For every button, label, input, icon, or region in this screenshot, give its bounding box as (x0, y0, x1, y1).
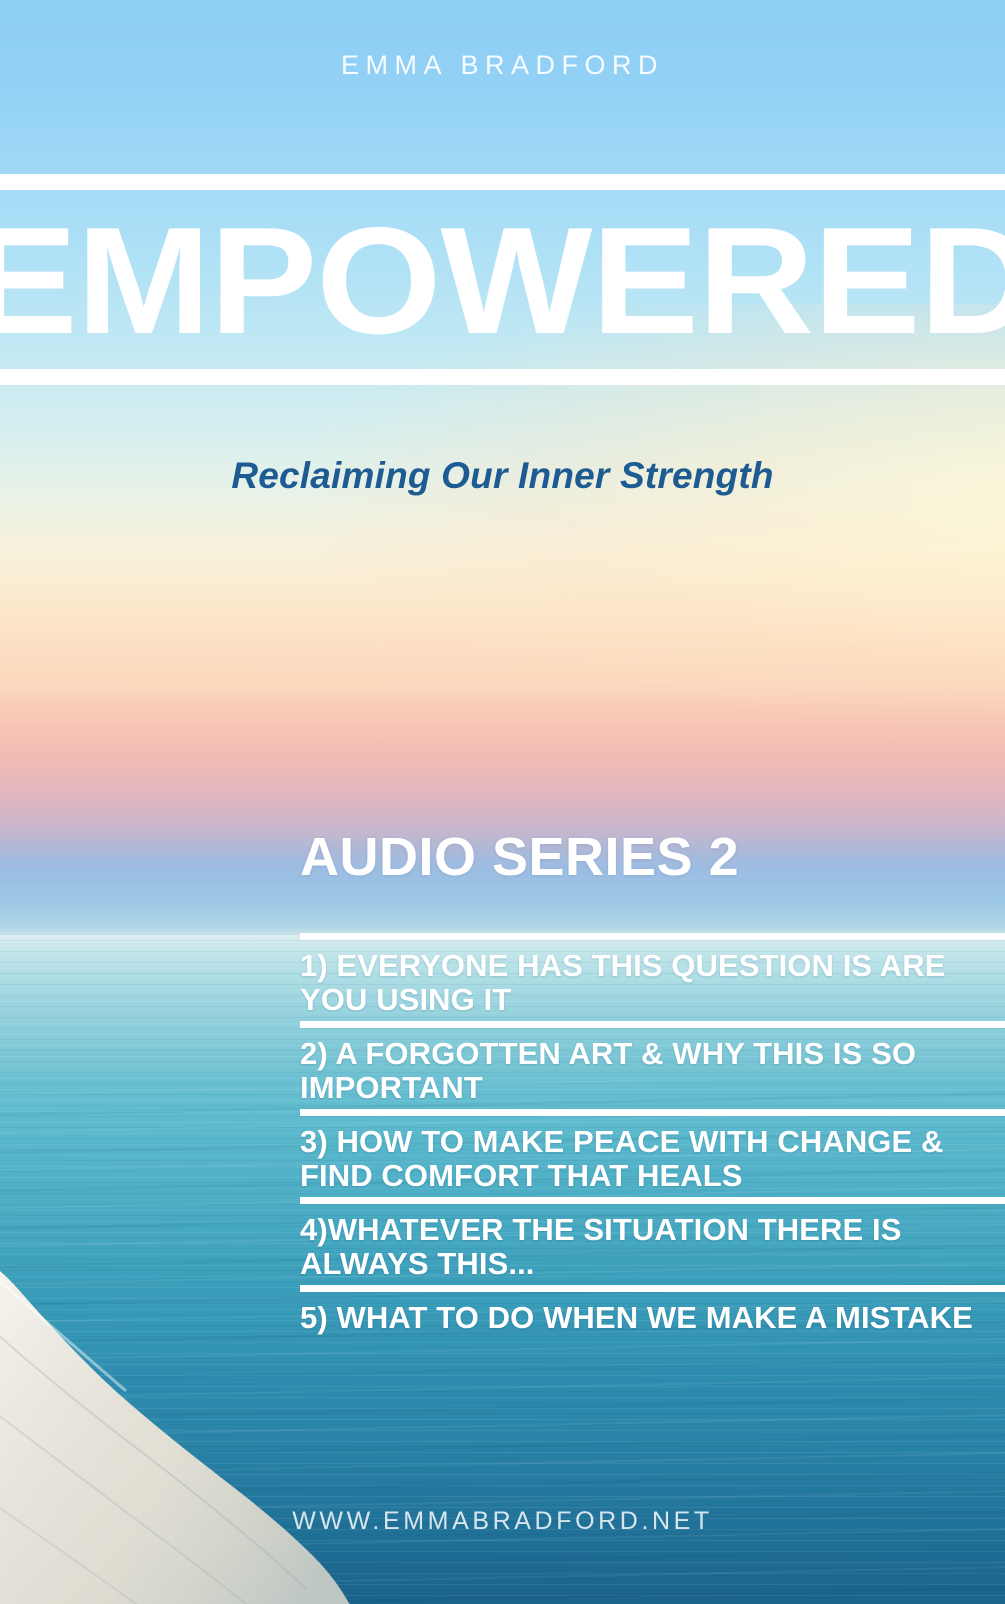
title-rule-bottom (0, 369, 1005, 385)
track-label: 3) HOW TO MAKE PEACE WITH CHANGE & FIND … (300, 1125, 1005, 1193)
track-separator (300, 1197, 1005, 1204)
author-name: EMMA BRADFORD (0, 50, 1005, 81)
list-item: 3) HOW TO MAKE PEACE WITH CHANGE & FIND … (300, 1109, 1005, 1197)
track-separator (300, 1285, 1005, 1292)
track-label: 1) EVERYONE HAS THIS QUESTION IS ARE YOU… (300, 949, 1005, 1017)
track-separator (300, 1021, 1005, 1028)
track-list: 1) EVERYONE HAS THIS QUESTION IS ARE YOU… (300, 933, 1005, 1339)
track-label: 5) WHAT TO DO WHEN WE MAKE A MISTAKE (300, 1301, 1005, 1335)
website-url: WWW.EMMABRADFORD.NET (0, 1507, 1005, 1536)
list-item: 2) A FORGOTTEN ART & WHY THIS IS SO IMPO… (300, 1021, 1005, 1109)
subtitle: Reclaiming Our Inner Strength (0, 455, 1005, 497)
track-label: 4)WHATEVER THE SITUATION THERE IS ALWAYS… (300, 1213, 1005, 1281)
book-cover: EMMA BRADFORD EMPOWERED Reclaiming Our I… (0, 0, 1005, 1604)
list-item: 4)WHATEVER THE SITUATION THERE IS ALWAYS… (300, 1197, 1005, 1285)
track-separator (300, 1109, 1005, 1116)
track-label: 2) A FORGOTTEN ART & WHY THIS IS SO IMPO… (300, 1037, 1005, 1105)
track-separator (300, 933, 1005, 940)
list-item: 5) WHAT TO DO WHEN WE MAKE A MISTAKE (300, 1285, 1005, 1339)
list-item: 1) EVERYONE HAS THIS QUESTION IS ARE YOU… (300, 933, 1005, 1021)
title-rule-top (0, 174, 1005, 190)
page-title: EMPOWERED (0, 196, 1005, 366)
series-heading: AUDIO SERIES 2 (300, 826, 739, 888)
